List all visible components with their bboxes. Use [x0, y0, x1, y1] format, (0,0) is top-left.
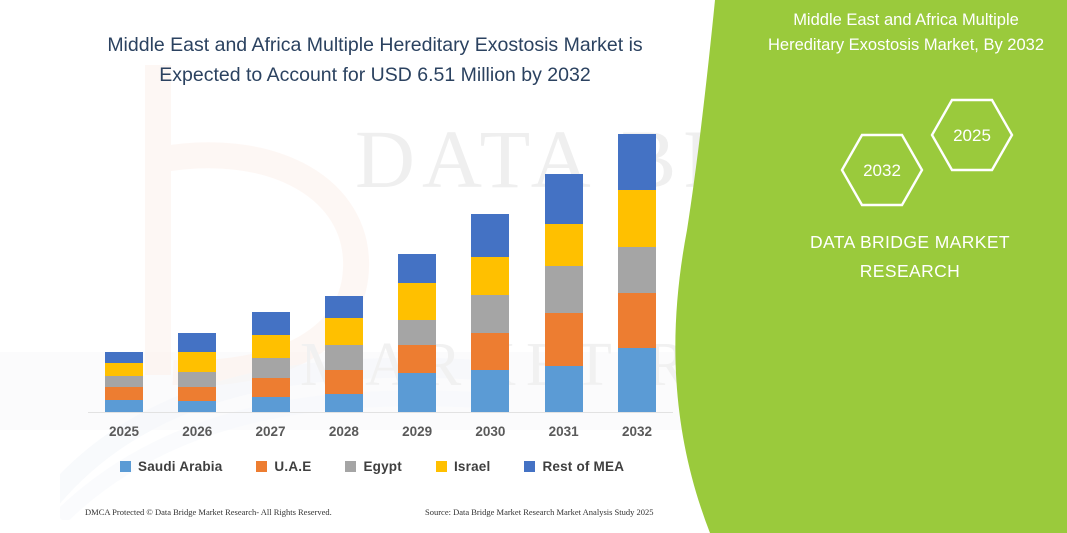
bar-segment-israel-2029[interactable]	[398, 283, 436, 320]
bar-segment-saudi-arabia-2030[interactable]	[471, 370, 509, 412]
legend-item-rest-of-mea[interactable]: Rest of MEA	[524, 459, 624, 474]
bar-segment-u-a-e-2029[interactable]	[398, 345, 436, 373]
x-axis-label-2028: 2028	[308, 424, 380, 444]
bar-segment-egypt-2026[interactable]	[178, 372, 216, 387]
legend-label-rest-of-mea: Rest of MEA	[542, 459, 624, 474]
legend-item-egypt[interactable]: Egypt	[345, 459, 402, 474]
footer-source: Source: Data Bridge Market Research Mark…	[425, 507, 654, 517]
bar-segment-egypt-2029[interactable]	[398, 320, 436, 345]
panel-title-line-1: Middle East and Africa Multiple	[756, 8, 1056, 33]
bar-segment-rest-of-mea-2030[interactable]	[471, 214, 509, 257]
bar-segment-u-a-e-2027[interactable]	[252, 378, 290, 397]
legend-swatch-u-a-e	[256, 461, 267, 472]
bar-segment-rest-of-mea-2031[interactable]	[545, 174, 583, 224]
bar-segment-u-a-e-2028[interactable]	[325, 370, 363, 394]
bar-segment-saudi-arabia-2025[interactable]	[105, 400, 143, 412]
x-axis-labels: 20252026202720282029203020312032	[88, 424, 673, 444]
hexagon-group: 2032 2025	[810, 95, 1050, 210]
bar-segment-saudi-arabia-2027[interactable]	[252, 397, 290, 412]
legend-swatch-israel	[436, 461, 447, 472]
stacked-bar-2031[interactable]	[545, 174, 583, 412]
bar-segment-israel-2030[interactable]	[471, 257, 509, 295]
footer: DMCA Protected © Data Bridge Market Rese…	[85, 507, 685, 523]
bar-segment-egypt-2027[interactable]	[252, 358, 290, 378]
stacked-bar-2026[interactable]	[178, 333, 216, 412]
brand-name: DATA BRIDGE MARKET RESEARCH	[760, 228, 1060, 286]
stacked-bar-2029[interactable]	[398, 254, 436, 412]
bar-slot-2025	[88, 110, 160, 412]
bar-slot-2026	[161, 110, 233, 412]
panel-title-line-2: Hereditary Exostosis Market, By 2032	[756, 33, 1056, 58]
legend-label-saudi-arabia: Saudi Arabia	[138, 459, 222, 474]
stacked-bar-2025[interactable]	[105, 352, 143, 412]
legend-label-egypt: Egypt	[363, 459, 402, 474]
bar-segment-u-a-e-2026[interactable]	[178, 387, 216, 401]
x-axis-label-2026: 2026	[161, 424, 233, 444]
stacked-bar-2027[interactable]	[252, 312, 290, 412]
bar-segment-egypt-2030[interactable]	[471, 295, 509, 333]
stacked-bar-chart	[88, 110, 673, 412]
bar-segment-saudi-arabia-2031[interactable]	[545, 366, 583, 412]
bar-segment-israel-2028[interactable]	[325, 318, 363, 345]
legend-item-saudi-arabia[interactable]: Saudi Arabia	[120, 459, 222, 474]
panel-title: Middle East and Africa Multiple Heredita…	[756, 8, 1056, 58]
legend-item-u-a-e[interactable]: U.A.E	[256, 459, 311, 474]
chart-baseline	[88, 412, 673, 413]
hexagon-icons	[810, 95, 1050, 210]
bar-segment-saudi-arabia-2028[interactable]	[325, 394, 363, 412]
bar-segment-u-a-e-2031[interactable]	[545, 313, 583, 366]
bar-segment-israel-2027[interactable]	[252, 335, 290, 358]
bar-segment-egypt-2031[interactable]	[545, 266, 583, 313]
bar-segment-rest-of-mea-2027[interactable]	[252, 312, 290, 335]
bar-segment-rest-of-mea-2026[interactable]	[178, 333, 216, 352]
legend-swatch-saudi-arabia	[120, 461, 131, 472]
bar-slot-2029	[381, 110, 453, 412]
bar-slot-2028	[308, 110, 380, 412]
x-axis-label-2027: 2027	[235, 424, 307, 444]
stacked-bar-2028[interactable]	[325, 296, 363, 412]
brand-line-2: RESEARCH	[760, 257, 1060, 286]
hexagon-2025-label: 2025	[937, 126, 1007, 146]
bar-segment-rest-of-mea-2029[interactable]	[398, 254, 436, 283]
bar-slot-2031	[528, 110, 600, 412]
legend-item-israel[interactable]: Israel	[436, 459, 490, 474]
bar-segment-u-a-e-2030[interactable]	[471, 333, 509, 370]
bar-segment-u-a-e-2025[interactable]	[105, 387, 143, 400]
infographic-canvas: DATA BRIDGE MARKET RESEARCH Middle East …	[0, 0, 1067, 533]
x-axis-label-2030: 2030	[454, 424, 526, 444]
footer-copyright: DMCA Protected © Data Bridge Market Rese…	[85, 507, 332, 517]
hexagon-2032-label: 2032	[847, 161, 917, 181]
bar-slot-2030	[454, 110, 526, 412]
legend-label-israel: Israel	[454, 459, 490, 474]
bar-segment-rest-of-mea-2028[interactable]	[325, 296, 363, 318]
bar-segment-rest-of-mea-2025[interactable]	[105, 352, 143, 363]
bar-slot-2027	[235, 110, 307, 412]
chart-title-line-2: Expected to Account for USD 6.51 Million…	[60, 60, 690, 90]
x-axis-label-2029: 2029	[381, 424, 453, 444]
bar-segment-israel-2026[interactable]	[178, 352, 216, 372]
chart-legend: Saudi ArabiaU.A.EEgyptIsraelRest of MEA	[120, 455, 660, 477]
stacked-bar-2030[interactable]	[471, 214, 509, 412]
chart-title-line-1: Middle East and Africa Multiple Heredita…	[60, 30, 690, 60]
bar-segment-saudi-arabia-2029[interactable]	[398, 373, 436, 412]
legend-swatch-rest-of-mea	[524, 461, 535, 472]
brand-line-1: DATA BRIDGE MARKET	[760, 228, 1060, 257]
bar-segment-saudi-arabia-2026[interactable]	[178, 401, 216, 412]
x-axis-label-2025: 2025	[88, 424, 160, 444]
bar-segment-israel-2025[interactable]	[105, 363, 143, 376]
chart-title: Middle East and Africa Multiple Heredita…	[60, 30, 690, 90]
legend-label-u-a-e: U.A.E	[274, 459, 311, 474]
green-panel-content: Middle East and Africa Multiple Heredita…	[650, 0, 1067, 533]
bar-segment-egypt-2028[interactable]	[325, 345, 363, 370]
bar-segment-egypt-2025[interactable]	[105, 376, 143, 387]
x-axis-label-2031: 2031	[528, 424, 600, 444]
bar-segment-israel-2031[interactable]	[545, 224, 583, 266]
legend-swatch-egypt	[345, 461, 356, 472]
